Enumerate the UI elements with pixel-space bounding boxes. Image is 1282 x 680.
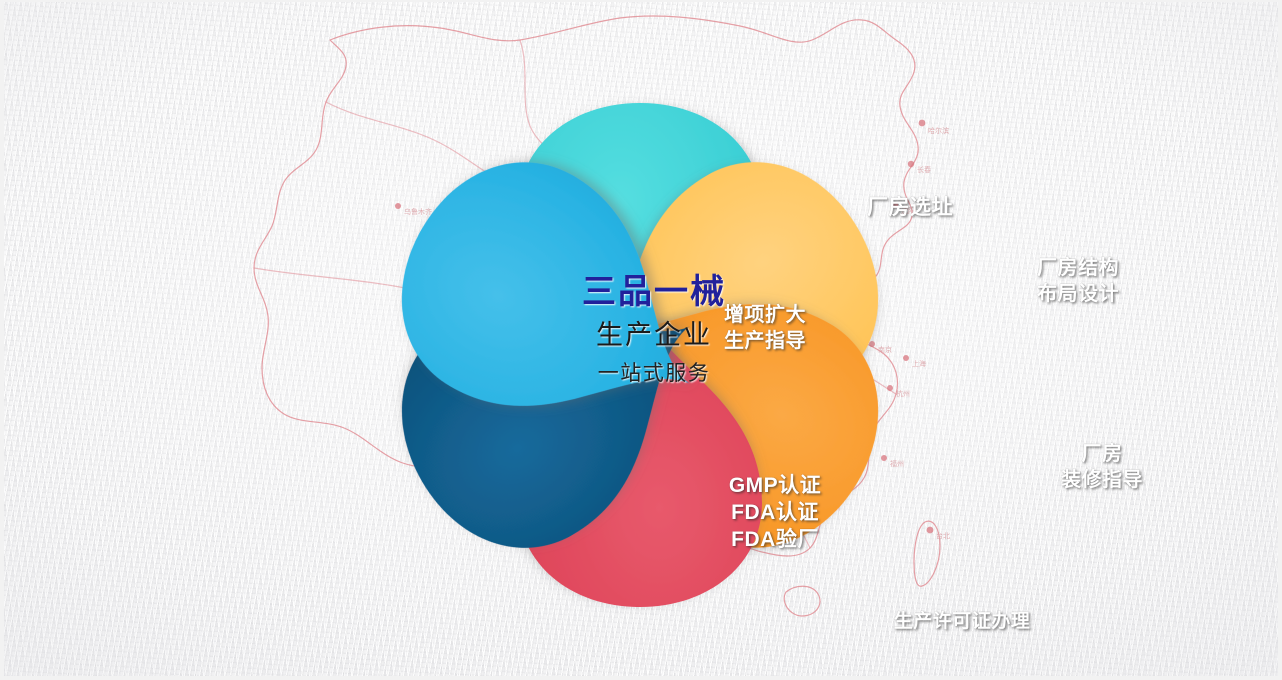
service-pinwheel-diagram: 厂房选址 厂房结构 布局设计 厂房 装修指导 生产许可证办理 妆字号 消字号 食…: [290, 55, 990, 635]
infographic-canvas: 哈尔滨 长春 沈阳 北京 太原 济南 郑州 南京 上海 武汉 杭州 长沙 福州 …: [0, 0, 1282, 680]
